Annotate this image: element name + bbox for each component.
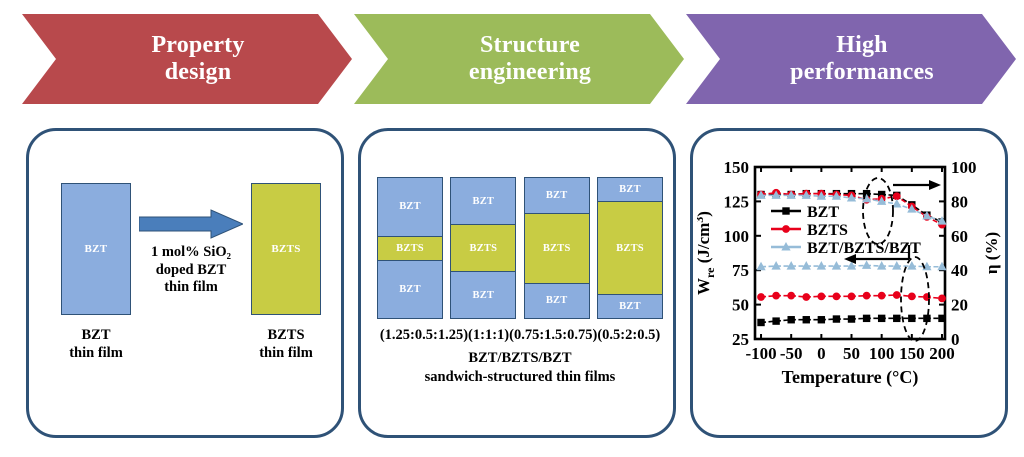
doping-caption: 1 mol% SiO₂ doped BZT thin film: [125, 244, 257, 297]
banner-high-performances-line2: performances: [768, 59, 934, 86]
series-marker: [803, 294, 810, 301]
legend-swatch-marker: [783, 226, 790, 233]
y-tick-label: 100: [724, 227, 750, 246]
series-marker: [863, 292, 870, 299]
sandwich-stack-3: BZTBZTSBZT: [597, 177, 663, 319]
y2-tick-label: 60: [951, 227, 968, 246]
x-tick-label: 50: [843, 344, 860, 363]
series-marker: [893, 292, 900, 299]
layer-label: BZTS: [396, 243, 424, 254]
series-marker: [788, 292, 795, 299]
banner-high-performances-line1: High: [768, 32, 934, 59]
sandwich-stack-2-layer-bzt: BZT: [525, 178, 589, 213]
performance-chart-svg: -100-50050100150200255075100125150020406…: [697, 149, 1007, 423]
x-tick-label: -50: [780, 344, 803, 363]
process-banner-row: Property design Structure engineering Hi…: [0, 0, 1024, 118]
sandwich-stack-3-layer-bzt: BZT: [598, 294, 662, 318]
series-marker: [758, 294, 765, 301]
sandwich-caption-line1: BZT/BZTS/BZT: [361, 349, 679, 368]
layer-label: BZT: [546, 190, 568, 201]
sandwich-stack-1: BZTBZTSBZT: [450, 177, 516, 319]
legend-swatch-marker: [783, 208, 789, 214]
layer-label: BZTS: [543, 243, 571, 254]
performance-chart: -100-50050100150200255075100125150020406…: [697, 149, 1007, 423]
y2-axis-label: η (%): [982, 232, 1001, 274]
doping-caption-line2: doped BZT: [125, 262, 257, 280]
sandwich-stack-row: BZTBZTSBZTBZTBZTSBZTBZTBZTSBZTBZTBZTSBZT: [377, 177, 663, 319]
panel-property-design: BZT 1 mol% SiO₂ doped BZT thin film BZTS…: [26, 128, 344, 438]
series-marker: [878, 292, 885, 299]
y-tick-label: 125: [724, 192, 750, 211]
layer-label: BZT: [399, 201, 421, 212]
layer-label: BZT: [473, 290, 495, 301]
banner-structure-engineering-line1: Structure: [447, 32, 591, 59]
legend-label: BZT: [807, 204, 839, 221]
sandwich-stack-0-layer-bzt: BZT: [378, 260, 442, 319]
x-tick-label: 0: [817, 344, 826, 363]
series-marker: [893, 193, 900, 200]
x-tick-label: 100: [869, 344, 895, 363]
series-marker: [878, 315, 884, 321]
x-axis-label: Temperature (°C): [782, 367, 919, 388]
film-caption-bzts-line2: thin film: [231, 345, 341, 363]
y-tick-label: 150: [724, 158, 750, 177]
layer-label: BZT: [473, 196, 495, 207]
sandwich-stack-1-layer-bzt: BZT: [451, 178, 515, 224]
sandwich-stack-2-layer-bzts: BZTS: [525, 213, 589, 283]
series-marker: [788, 317, 794, 323]
sandwich-stack-0: BZTBZTSBZT: [377, 177, 443, 319]
banner-high-performances: High performances: [686, 14, 1016, 104]
y2-tick-label: 80: [951, 192, 968, 211]
series-marker: [773, 292, 780, 299]
y-tick-label: 50: [732, 296, 749, 315]
series-marker: [773, 318, 779, 324]
series-marker: [894, 315, 900, 321]
panel-structure-engineering: BZTBZTSBZTBZTBZTSBZTBZTBZTSBZTBZTBZTSBZT…: [358, 128, 676, 438]
sandwich-stack-0-layer-bzts: BZTS: [378, 236, 442, 260]
y2-tick-label: 40: [951, 261, 968, 280]
series-marker: [939, 315, 945, 321]
y2-tick-label: 0: [951, 330, 960, 349]
film-block-bzts: BZTS: [251, 183, 321, 315]
film-block-bzt-label: BZT: [85, 243, 108, 255]
banner-property-design-line2: design: [129, 59, 244, 86]
sandwich-stack-1-layer-bzt: BZT: [451, 271, 515, 318]
svg-text:Wre (J/cm3): Wre (J/cm3): [697, 211, 717, 295]
series-marker: [909, 315, 915, 321]
series-marker: [833, 316, 839, 322]
sandwich-stack-2-layer-bzt: BZT: [525, 283, 589, 319]
layer-label: BZTS: [616, 243, 644, 254]
banner-structure-engineering: Structure engineering: [354, 14, 684, 104]
doping-arrow-icon: [139, 209, 243, 239]
series-marker: [908, 293, 915, 300]
panel-high-performances: -100-50050100150200255075100125150020406…: [690, 128, 1008, 438]
y-tick-label: 75: [732, 261, 749, 280]
series-marker: [803, 317, 809, 323]
film-caption-bzt: BZT thin film: [41, 327, 151, 362]
series-marker: [939, 295, 946, 302]
series-marker: [863, 315, 869, 321]
series-marker: [833, 293, 840, 300]
film-caption-bzts-line1: BZTS: [231, 327, 341, 345]
film-caption-bzt-line1: BZT: [41, 327, 151, 345]
banner-structure-engineering-line2: engineering: [447, 59, 591, 86]
legend-label: BZTS: [807, 222, 848, 239]
sandwich-stack-3-layer-bzt: BZT: [598, 178, 662, 201]
doping-caption-line3: thin film: [125, 279, 257, 297]
y2-tick-label: 100: [951, 158, 977, 177]
layer-label: BZTS: [470, 243, 498, 254]
sandwich-stack-1-layer-bzts: BZTS: [451, 224, 515, 271]
y2-tick-label: 20: [951, 296, 968, 315]
layer-label: BZT: [619, 301, 641, 312]
series-marker: [758, 319, 764, 325]
layer-label: BZT: [546, 295, 568, 306]
sandwich-ratio-1: (1:1:1): [468, 327, 509, 344]
sandwich-stack-2: BZTBZTSBZT: [524, 177, 590, 319]
y-axis-label: Wre (J/cm3): [697, 211, 717, 295]
svg-text:η (%): η (%): [982, 232, 1001, 274]
sandwich-ratio-0: (1.25:0.5:1.25): [380, 327, 468, 344]
x-tick-label: -100: [745, 344, 776, 363]
x-tick-label: 150: [899, 344, 925, 363]
series-marker: [848, 293, 855, 300]
banner-property-design-line1: Property: [129, 32, 244, 59]
film-caption-bzts: BZTS thin film: [231, 327, 341, 362]
series-marker: [848, 316, 854, 322]
layer-label: BZT: [619, 184, 641, 195]
banner-property-design: Property design: [22, 14, 352, 104]
sandwich-ratio-3: (0.5:2:0.5): [597, 327, 660, 344]
sandwich-caption: BZT/BZTS/BZT sandwich-structured thin fi…: [361, 349, 679, 387]
film-block-bzts-label: BZTS: [271, 243, 300, 255]
series-marker: [818, 317, 824, 323]
sandwich-ratio-2: (0.75:1.5:0.75): [509, 327, 597, 344]
sandwich-caption-line2: sandwich-structured thin films: [361, 368, 679, 387]
sandwich-ratio-row: (1.25:0.5:1.25)(1:1:1)(0.75:1.5:0.75)(0.…: [361, 327, 679, 344]
film-caption-bzt-line2: thin film: [41, 345, 151, 363]
legend-label: BZT/BZTS/BZT: [807, 240, 921, 257]
series-marker: [818, 293, 825, 300]
sandwich-stack-3-layer-bzts: BZTS: [598, 201, 662, 294]
sandwich-stack-0-layer-bzt: BZT: [378, 178, 442, 236]
film-block-bzt: BZT: [61, 183, 131, 315]
doping-caption-line1: 1 mol% SiO₂: [125, 244, 257, 262]
layer-label: BZT: [399, 284, 421, 295]
y-tick-label: 25: [732, 330, 749, 349]
